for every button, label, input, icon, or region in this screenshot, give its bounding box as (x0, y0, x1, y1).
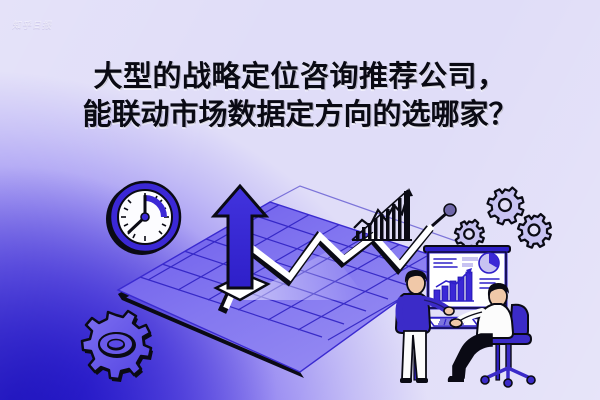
bar-chart-black (352, 188, 413, 240)
wall-clock (106, 182, 180, 255)
illustration (0, 0, 600, 400)
gear-icon-right (518, 214, 551, 248)
gear-cluster (455, 188, 551, 250)
large-gear (82, 311, 153, 382)
poster-canvas: 知乎日报 大型的战略定位咨询推荐公司， 能联动市场数据定方向的选哪家？ (0, 0, 600, 400)
gear-icon-top (488, 188, 524, 225)
